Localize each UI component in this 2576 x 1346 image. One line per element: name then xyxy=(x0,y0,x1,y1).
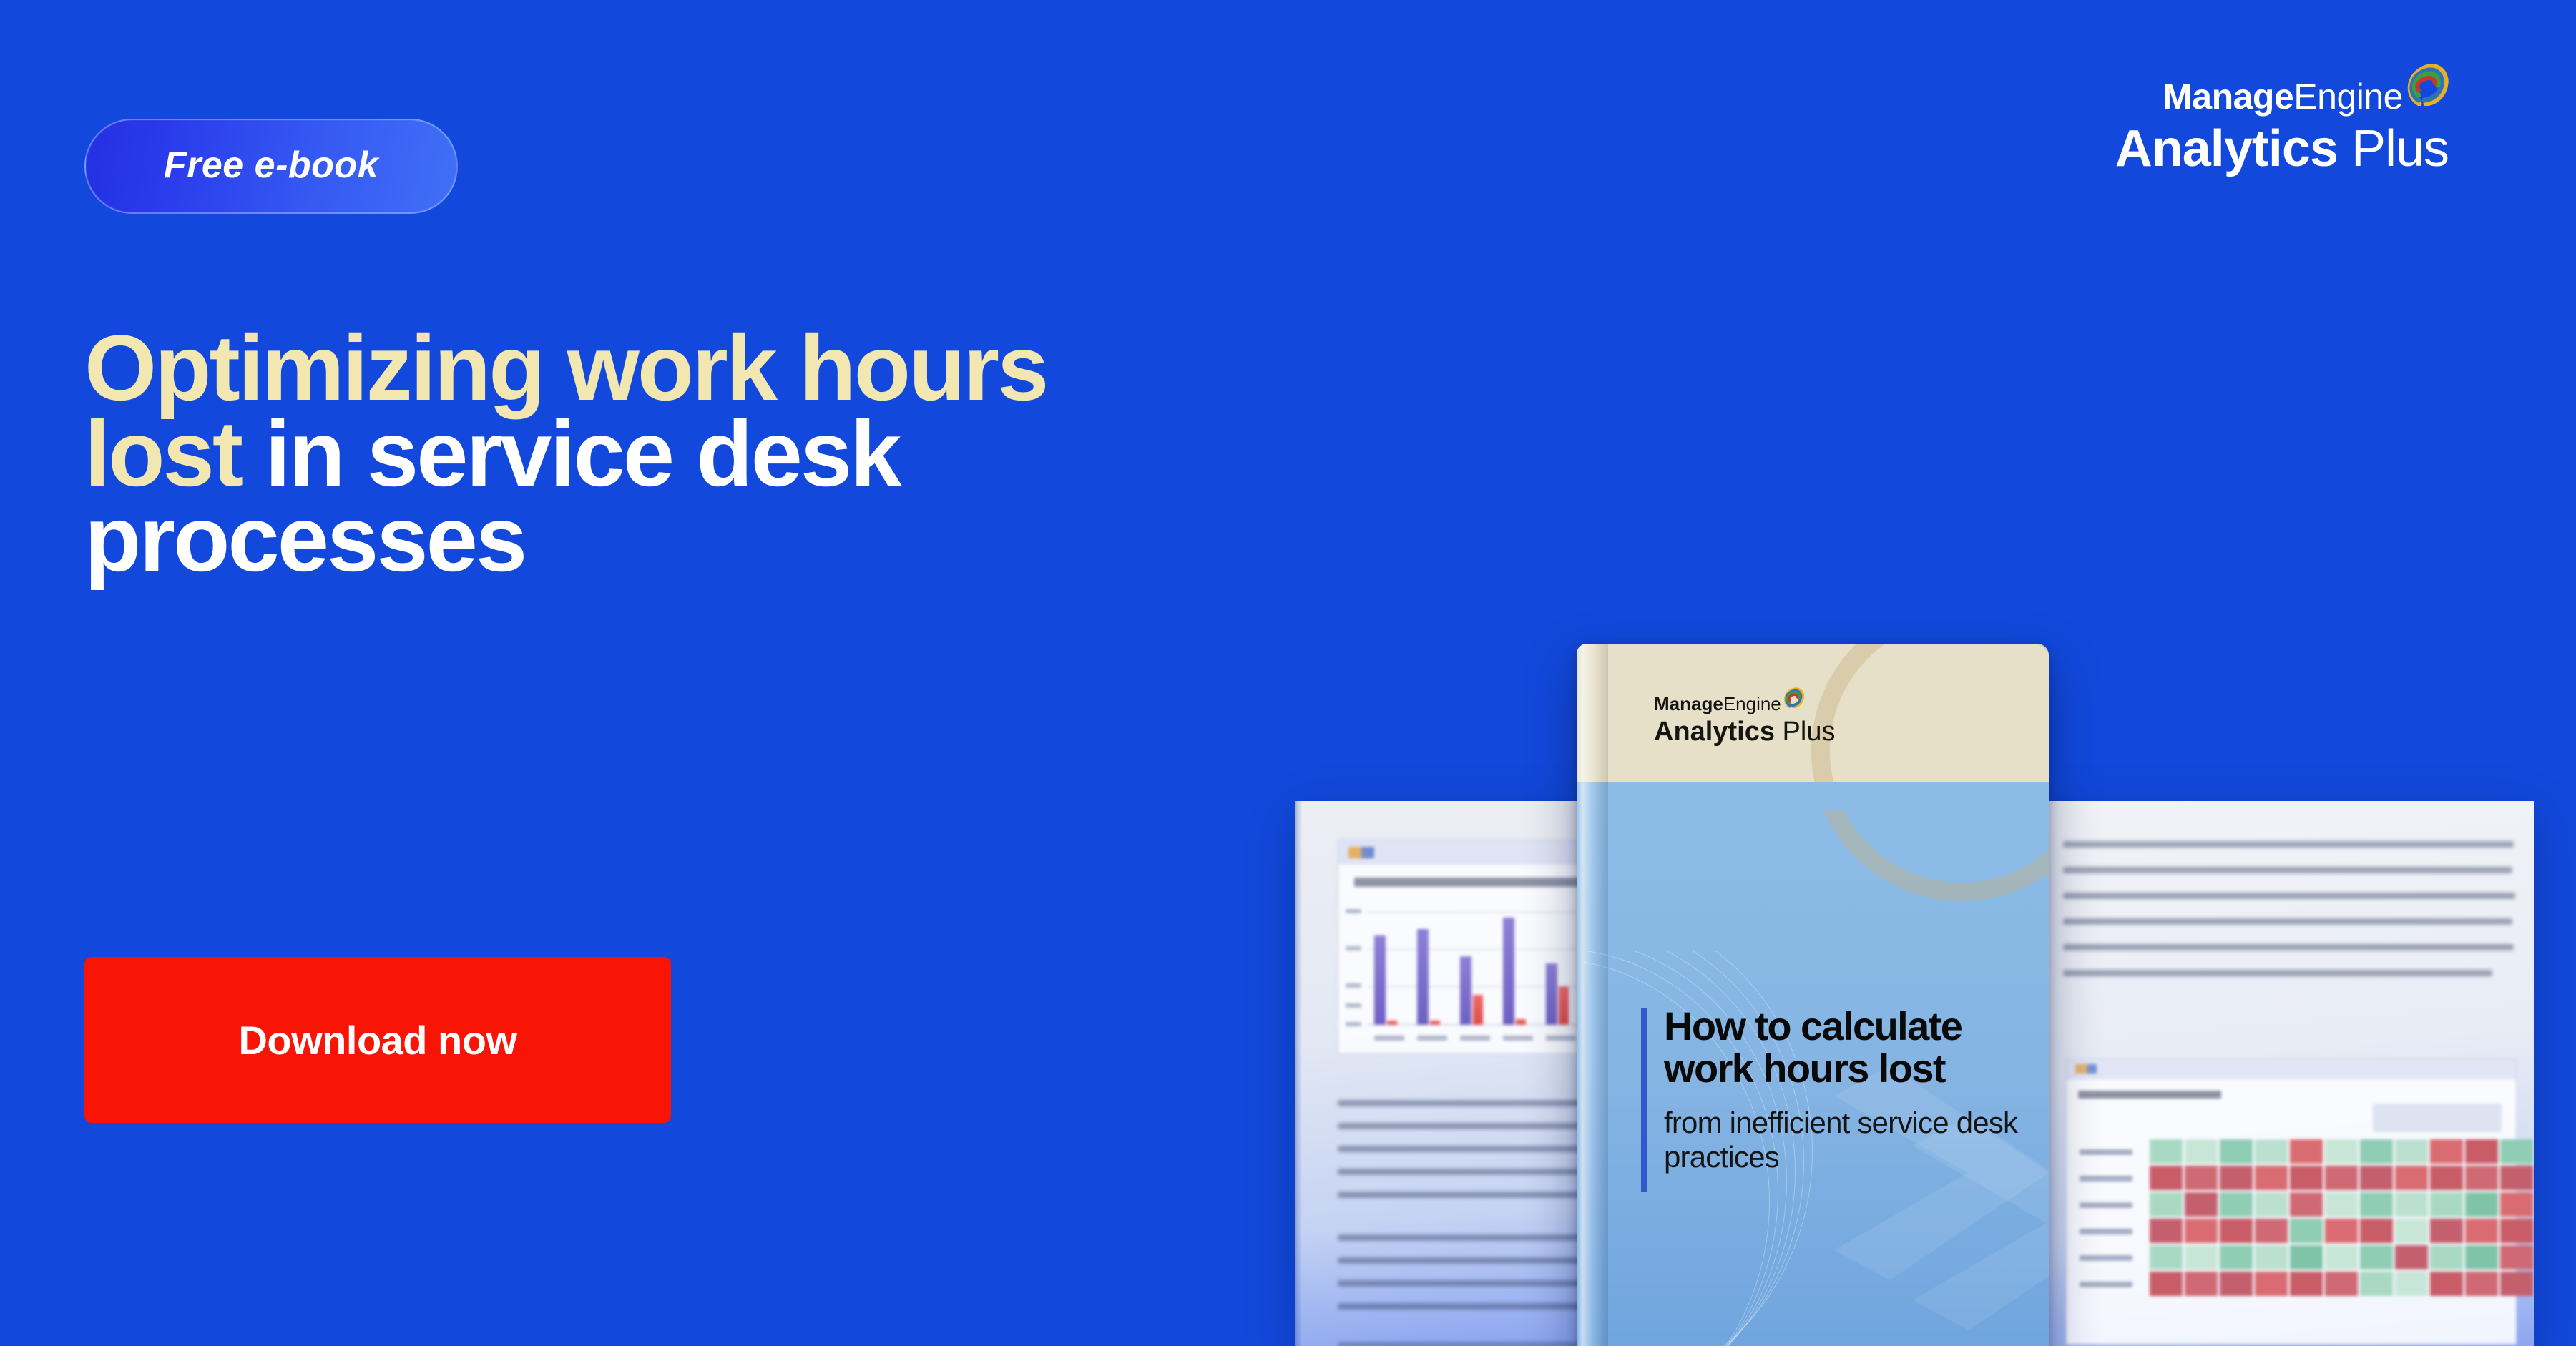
download-now-button[interactable]: Download now xyxy=(84,957,671,1123)
heatmap-grid xyxy=(2150,1139,2534,1296)
cover-manageengine-swoosh-icon xyxy=(1783,687,1804,711)
bar-x-label xyxy=(1546,1036,1576,1041)
heatmap-cell xyxy=(2360,1192,2393,1217)
bar xyxy=(1503,918,1514,1025)
heatmap-cell xyxy=(2150,1166,2183,1190)
bar-x-label xyxy=(1503,1036,1533,1041)
bar xyxy=(1546,963,1557,1025)
manageengine-swoosh-icon xyxy=(2404,63,2449,112)
download-now-label: Download now xyxy=(238,1017,516,1063)
heatmap-cell xyxy=(2395,1192,2428,1217)
heatmap-cell xyxy=(2465,1219,2498,1243)
cover-manageengine-wordmark: ManageEngine xyxy=(1654,689,1835,713)
cover-title-block: How to calculate work hours lost from in… xyxy=(1641,1005,2042,1174)
heatmap-cell xyxy=(2185,1192,2218,1217)
cover-subtitle: from inefficient service desk practices xyxy=(1664,1106,2042,1174)
heatmap-cell xyxy=(2150,1245,2183,1269)
heatmap-cell xyxy=(2360,1166,2393,1190)
cover-manageengine-logo: ManageEngine Analytics Plus xyxy=(1654,689,1835,745)
bar xyxy=(1516,1019,1526,1025)
heatmap-cell xyxy=(2220,1219,2253,1243)
bar xyxy=(1559,986,1569,1025)
heatmap-cell xyxy=(2360,1139,2393,1164)
heatmap-cell xyxy=(2360,1272,2393,1296)
cover-subtitle-line-1: from inefficient service desk xyxy=(1664,1106,2042,1140)
cover-title-line-2: work hours lost xyxy=(1664,1047,2042,1089)
heatmap-cell xyxy=(2150,1272,2183,1296)
logo-analytics-text: Analytics xyxy=(2115,120,2338,177)
headline-line-1: Optimizing work hours xyxy=(84,325,1801,411)
heatmap-cell xyxy=(2500,1139,2533,1164)
bar-group xyxy=(1460,956,1483,1025)
cover-logo-manage-text: Manage xyxy=(1654,694,1723,713)
manageengine-wordmark: ManageEngine xyxy=(2115,66,2449,114)
heatmap-cell xyxy=(2220,1272,2253,1296)
heatmap-cell xyxy=(2290,1245,2323,1269)
cover-subtitle-line-2: practices xyxy=(1664,1140,2042,1174)
heatmap-cell xyxy=(2290,1219,2323,1243)
heatmap-cell xyxy=(2325,1192,2358,1217)
headline-line-2: lost in service desk xyxy=(84,411,1801,497)
heatmap-cell xyxy=(2325,1139,2358,1164)
headline-line-3-plain: processes xyxy=(84,486,525,591)
manageengine-logo: ManageEngine Analytics Plus xyxy=(2115,66,2449,175)
heatmap-cell xyxy=(2430,1166,2463,1190)
bar-group xyxy=(1503,918,1526,1025)
bar xyxy=(1417,929,1429,1025)
logo-plus-text: Plus xyxy=(2351,120,2449,177)
heatmap-cell xyxy=(2395,1219,2428,1243)
heatmap-cell xyxy=(2220,1139,2253,1164)
heatmap-cell xyxy=(2395,1245,2428,1269)
heatmap-cell xyxy=(2185,1245,2218,1269)
heatmap-cell xyxy=(2430,1192,2463,1217)
cover-title: How to calculate work hours lost xyxy=(1664,1005,2042,1090)
cover-logo-analytics-text: Analytics xyxy=(1654,717,1775,747)
heatmap-cell xyxy=(2255,1192,2288,1217)
ebook-banner: Free e-book ManageEngine Analytics Plus … xyxy=(0,0,2576,1346)
heatmap-cell xyxy=(2220,1166,2253,1190)
heatmap-cell xyxy=(2220,1192,2253,1217)
bar xyxy=(1374,935,1386,1025)
heatmap-cell xyxy=(2325,1272,2358,1296)
heatmap-cell xyxy=(2430,1272,2463,1296)
bar xyxy=(1387,1021,1397,1025)
cover-band-corner xyxy=(1608,782,2049,810)
heatmap-cell xyxy=(2360,1219,2393,1243)
heatmap-cell xyxy=(2325,1166,2358,1190)
heatmap-cell xyxy=(2500,1219,2533,1243)
ebook-artwork: ManageEngine Analytics Plus xyxy=(1273,629,2576,1346)
heatmap-cell xyxy=(2185,1219,2218,1243)
book-spine xyxy=(1577,644,1608,1346)
heatmap-legend xyxy=(2373,1104,2502,1132)
heatmap-cell xyxy=(2465,1192,2498,1217)
bar-x-label xyxy=(1374,1036,1404,1041)
heatmap-cell xyxy=(2185,1139,2218,1164)
heatmap-cell xyxy=(2150,1192,2183,1217)
heatmap-cell xyxy=(2465,1139,2498,1164)
heatmap-cell xyxy=(2500,1192,2533,1217)
analytics-plus-wordmark: Analytics Plus xyxy=(2115,123,2449,175)
heatmap-cell xyxy=(2465,1166,2498,1190)
heatmap-cell xyxy=(2430,1139,2463,1164)
cover-ring-decoration xyxy=(1811,644,2049,901)
heatmap-cell xyxy=(2290,1139,2323,1164)
heatmap-cell xyxy=(2325,1219,2358,1243)
headline-line-3: processes xyxy=(84,496,1801,582)
heatmap-cell xyxy=(2395,1139,2428,1164)
bar-group xyxy=(1546,963,1569,1025)
heatmap-cell xyxy=(2290,1192,2323,1217)
heatmap-cell xyxy=(2465,1245,2498,1269)
heatmap-cell xyxy=(2290,1166,2323,1190)
bar xyxy=(1460,956,1471,1025)
free-ebook-badge: Free e-book xyxy=(84,119,458,214)
cover-analytics-plus-wordmark: Analytics Plus xyxy=(1654,718,1835,745)
heatmap-cell xyxy=(2430,1219,2463,1243)
heatmap-cell xyxy=(2465,1272,2498,1296)
dashboard-logo-icon xyxy=(1348,847,1374,858)
heatmap-cell xyxy=(2500,1166,2533,1190)
heatmap-cell xyxy=(2255,1139,2288,1164)
heatmap-header xyxy=(2067,1059,2516,1079)
heatmap-cell xyxy=(2255,1245,2288,1269)
heatmap-cell xyxy=(2255,1272,2288,1296)
heatmap-cell xyxy=(2150,1219,2183,1243)
heatmap-logo-icon xyxy=(2075,1064,2097,1074)
heatmap-cell xyxy=(2430,1245,2463,1269)
heatmap-cell xyxy=(2395,1272,2428,1296)
heatmap-cell xyxy=(2290,1272,2323,1296)
background-page-right xyxy=(2033,801,2534,1346)
logo-engine-text: Engine xyxy=(2293,79,2403,114)
bar xyxy=(1430,1021,1440,1025)
bar xyxy=(1473,995,1483,1025)
heatmap-cell xyxy=(2395,1166,2428,1190)
heatmap-cell xyxy=(2500,1272,2533,1296)
cover-title-accent-bar xyxy=(1641,1008,1647,1192)
cover-logo-plus-text: Plus xyxy=(1783,717,1836,747)
headline: Optimizing work hours lost in service de… xyxy=(84,325,1801,582)
bar-group xyxy=(1374,935,1397,1025)
heatmap-cell xyxy=(2360,1245,2393,1269)
heatmap-cell xyxy=(2325,1245,2358,1269)
bar-x-label xyxy=(1417,1036,1447,1041)
heatmap-cell xyxy=(2150,1139,2183,1164)
heatmap-title-placeholder xyxy=(2078,1091,2221,1099)
bar-group xyxy=(1417,929,1440,1025)
heatmap-cell xyxy=(2255,1166,2288,1190)
cover-logo-engine-text: Engine xyxy=(1723,694,1781,713)
heatmap-cell xyxy=(2220,1245,2253,1269)
logo-manage-text: Manage xyxy=(2163,79,2293,114)
bar-x-label xyxy=(1460,1036,1490,1041)
cover-title-line-1: How to calculate xyxy=(1664,1005,2042,1047)
free-ebook-badge-label: Free e-book xyxy=(164,144,378,187)
heatmap-cell xyxy=(2255,1219,2288,1243)
heatmap-cell xyxy=(2185,1166,2218,1190)
heatmap-card xyxy=(2066,1058,2517,1345)
heatmap-cell xyxy=(2185,1272,2218,1296)
ebook-cover: ManageEngine Analytics Plus xyxy=(1577,644,2049,1346)
heatmap-cell xyxy=(2500,1245,2533,1269)
